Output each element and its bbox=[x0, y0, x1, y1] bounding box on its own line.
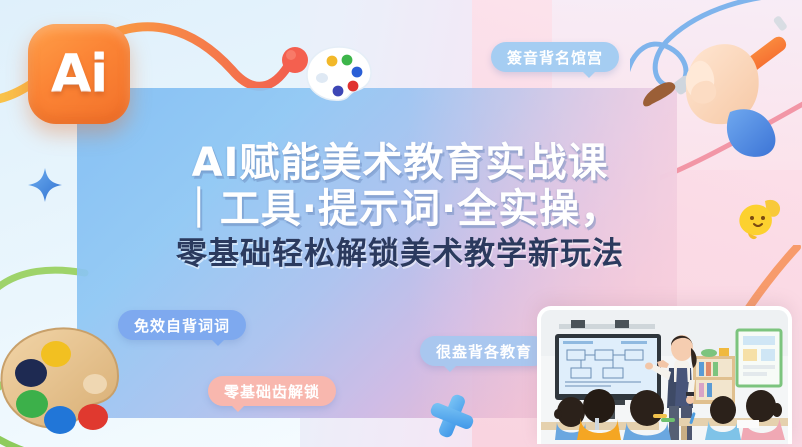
badge-pill-3: 零基础齿解锁 bbox=[208, 376, 336, 406]
badge-pill-4-label: 很盎背各教育 bbox=[436, 341, 532, 362]
badge-pill-4: 很盎背各教育 bbox=[420, 336, 548, 366]
sparkle-icon bbox=[28, 168, 62, 202]
ai-logo-icon: Ai bbox=[28, 24, 130, 124]
badge-pill-3-label: 零基础齿解锁 bbox=[224, 381, 320, 402]
ai-logo-text: Ai bbox=[51, 44, 107, 104]
title-line-1: AI赋能美术教育实战课 bbox=[144, 140, 656, 186]
blue-cross-icon bbox=[428, 392, 476, 440]
wooden-palette-icon bbox=[0, 320, 124, 445]
yellow-character-icon bbox=[735, 195, 785, 243]
title-block: AI赋能美术教育实战课 ｜工具·提示词·全实操， 零基础轻松解锁美术教学新玩法 bbox=[144, 140, 656, 273]
badge-pill-1: 簽音背名馆宫 bbox=[491, 42, 619, 72]
palette-icon bbox=[305, 45, 373, 103]
hand-holding-paintbrush-icon bbox=[638, 0, 802, 157]
badge-pill-1-label: 簽音背名馆宫 bbox=[507, 47, 603, 68]
classroom-photo-card bbox=[537, 306, 792, 444]
classroom-photo bbox=[541, 310, 788, 440]
title-line-2: ｜工具·提示词·全实操， bbox=[144, 186, 656, 232]
title-line-3: 零基础轻松解锁美术教学新玩法 bbox=[144, 237, 656, 273]
course-promo-banner: Ai bbox=[0, 0, 802, 447]
badge-pill-2: 免效自背词词 bbox=[118, 310, 246, 340]
badge-pill-2-label: 免效自背词词 bbox=[134, 315, 230, 336]
